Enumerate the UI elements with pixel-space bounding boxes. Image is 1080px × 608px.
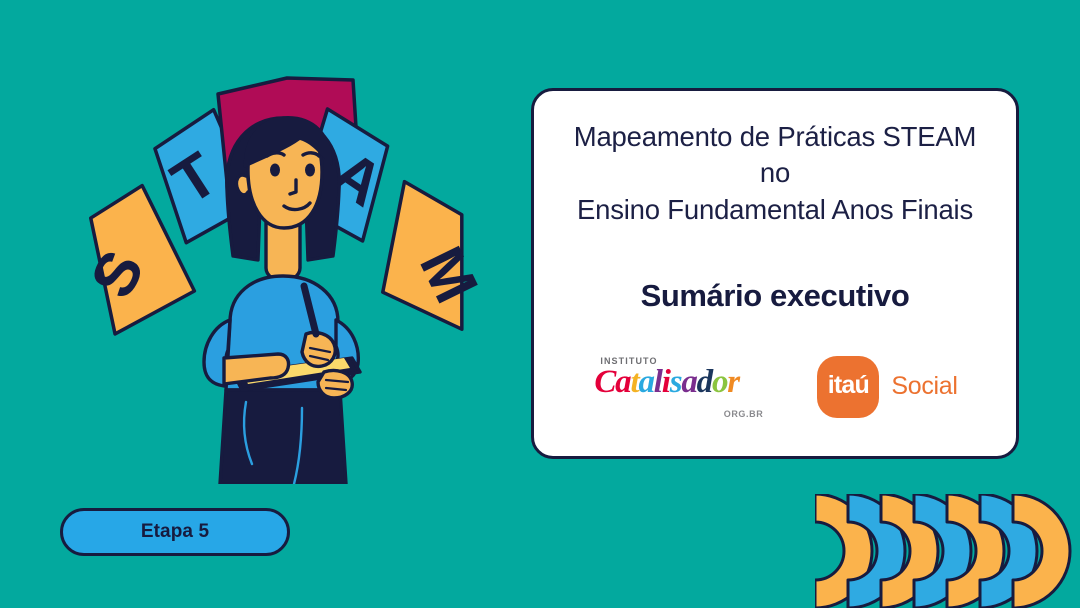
status-badge-label: Etapa 5	[141, 521, 209, 543]
status-badge: Etapa 5	[60, 508, 290, 556]
crescent-decoration	[815, 494, 1080, 608]
itau-mark: itaú	[817, 356, 879, 418]
logo-row: INSTITUTO Catalisador ORG.BR itaú Social	[534, 356, 1016, 418]
steam-arc-illustration: S T E A	[38, 72, 528, 484]
itau-social-logo: itaú Social	[817, 356, 957, 418]
itau-mark-text: itaú	[828, 373, 869, 400]
title-card: Mapeamento de Práticas STEAM no Ensino F…	[531, 88, 1019, 459]
page-title: Mapeamento de Práticas STEAM no Ensino F…	[555, 119, 995, 228]
instituto-catalisador-logo: INSTITUTO Catalisador ORG.BR	[592, 356, 767, 418]
steam-tile-m: M	[380, 181, 491, 330]
itau-social-label: Social	[891, 372, 957, 401]
slide-canvas: S T E A	[0, 0, 1080, 608]
student-figure	[204, 116, 360, 484]
page-subtitle: Sumário executivo	[641, 278, 910, 314]
catalisador-wordmark: Catalisador	[594, 364, 739, 401]
catalisador-domain: ORG.BR	[724, 409, 764, 419]
